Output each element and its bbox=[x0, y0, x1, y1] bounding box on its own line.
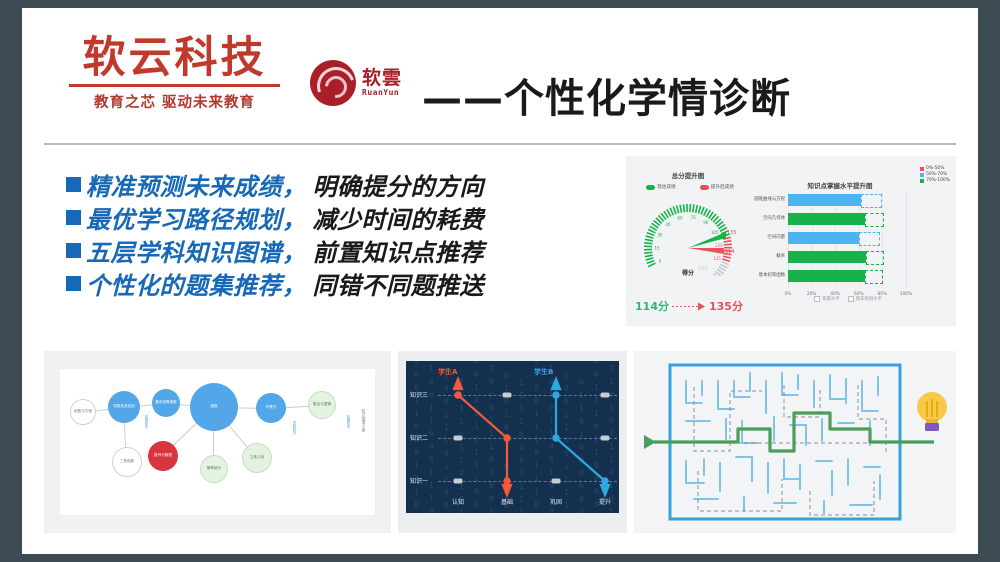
gauge-needle-target bbox=[688, 248, 724, 254]
legend-swatch-target bbox=[700, 185, 709, 190]
bullet-highlight: 五层学科知识图谱， bbox=[86, 233, 307, 268]
legend-swatch-forecast bbox=[848, 296, 854, 302]
legend-item: 50%-70% bbox=[920, 172, 950, 177]
bar-target-segment bbox=[865, 213, 885, 227]
graph-node[interactable]: 导数及其应用 bbox=[108, 391, 140, 423]
gauge-tick-label: 30 bbox=[657, 233, 663, 238]
list-item: 个性化的题集推荐， 同错不同题推送 bbox=[66, 267, 626, 300]
gauge-tick bbox=[704, 208, 708, 215]
target-score: 135分 bbox=[709, 298, 743, 314]
bar-target-segment bbox=[865, 270, 884, 284]
gauge-needle-label-target: 135 bbox=[727, 230, 737, 236]
legend-label: 70%-100% bbox=[926, 178, 950, 183]
gauge-tick bbox=[644, 243, 652, 244]
current-score: 114分 bbox=[635, 298, 669, 314]
list-item: 精准预测未来成绩， 明确提分的方向 bbox=[66, 168, 626, 201]
score-progression: 114分 135分 bbox=[630, 298, 748, 314]
gauge-tick bbox=[647, 261, 655, 264]
emblem-circle-icon bbox=[310, 60, 356, 106]
bar-target-segment bbox=[866, 251, 885, 265]
bar-current-segment bbox=[788, 270, 865, 282]
list-item: 最优学习路径规划， 减少时间的耗费 bbox=[66, 201, 626, 234]
gauge-legend: 现估成绩 提升后成绩 bbox=[634, 184, 746, 190]
gauge-tick bbox=[645, 239, 653, 241]
gauge-title: 总分提升图 bbox=[630, 170, 746, 180]
gauge-tick bbox=[724, 241, 732, 242]
gauge-tick-label: 75 bbox=[691, 215, 697, 220]
company-logo: 软云科技 教育之芯 驱动未来教育 bbox=[67, 36, 282, 112]
gauge-tick-label: 15 bbox=[654, 246, 660, 251]
gauge-tick bbox=[696, 205, 698, 213]
gauge-tick bbox=[646, 258, 654, 260]
graph-node[interactable]: 集合与逻辑 bbox=[308, 391, 336, 419]
bar-row: 空间几何体 bbox=[788, 213, 906, 225]
square-bullet-icon bbox=[66, 276, 81, 291]
graph-edge-label: 前置知识 bbox=[144, 415, 149, 429]
legend-label: 期末预测水平 bbox=[856, 296, 882, 302]
gauge-tick bbox=[648, 229, 655, 232]
gauge-center-label: 得分 bbox=[630, 268, 746, 277]
gauge-chart: 总分提升图 现估成绩 提升后成绩 0153045607590105120135 … bbox=[630, 164, 746, 322]
logo-divider bbox=[69, 84, 280, 87]
gauge-tick-label: 105 bbox=[711, 230, 719, 235]
graph-node[interactable]: 概率统计 bbox=[200, 455, 228, 483]
slide-frame: 软云科技 教育之芯 驱动未来教育 软雲 RuanYun ——个性化学情诊断 精准… bbox=[22, 8, 978, 554]
legend-item: 0%-50% bbox=[920, 166, 950, 171]
bar-current-segment bbox=[788, 232, 859, 244]
bar-row: 概率 bbox=[788, 251, 906, 263]
legend-swatch-current bbox=[646, 185, 655, 190]
category-label: 圆锥曲线与方程 bbox=[754, 194, 785, 206]
gauge-tick-label: 135 bbox=[713, 256, 721, 261]
student-b-path bbox=[552, 379, 609, 495]
gauge-tick bbox=[645, 255, 653, 257]
analytics-card: 总分提升图 现估成绩 提升后成绩 0153045607590105120135 … bbox=[626, 156, 956, 326]
knowledge-bar-chart: 知识点掌握水平提升图 0%-50% 50%-70% 70%-100% 0%20%… bbox=[746, 164, 952, 322]
legend-label: 现估成绩 bbox=[657, 184, 675, 190]
gauge-tick bbox=[721, 262, 728, 265]
gauge-tick bbox=[670, 208, 673, 215]
graph-node[interactable]: 三角函数 bbox=[112, 447, 142, 477]
knowledge-graph-panel: 函数与方程导数及其应用基本初等函数函数不等式集合与逻辑三角函数数列与极限概率统计… bbox=[44, 351, 391, 533]
maze-optimal-path bbox=[654, 413, 934, 451]
gauge-tick-label: 90 bbox=[703, 220, 709, 225]
legend-swatch-mid bbox=[920, 173, 924, 177]
bar-row: 基本初等函数 bbox=[788, 270, 906, 282]
bullet-list: 精准预测未来成绩， 明确提分的方向 最优学习路径规划， 减少时间的耗费 五层学科… bbox=[66, 168, 626, 300]
gauge-tick bbox=[677, 206, 679, 214]
graph-caption: 知识图谱示意 bbox=[362, 409, 367, 432]
gauge-tick-label: 120 bbox=[715, 243, 723, 248]
bullet-highlight: 个性化的题集推荐， bbox=[86, 266, 307, 301]
lightbulb-icon bbox=[917, 392, 947, 431]
category-label: 基本初等函数 bbox=[759, 270, 785, 282]
gauge-tick bbox=[644, 252, 652, 253]
bullet-highlight: 最优学习路径规划， bbox=[86, 200, 307, 235]
gauge-dial: 0153045607590105120135 135 114 150 bbox=[638, 192, 738, 276]
category-label: 空间向量 bbox=[767, 232, 785, 244]
gauge-tick bbox=[683, 204, 684, 212]
gauge-tick bbox=[698, 206, 700, 214]
list-item: 五层学科知识图谱， 前置知识点推荐 bbox=[66, 234, 626, 267]
gridline bbox=[906, 192, 907, 288]
bullet-tail: 前置知识点推荐 bbox=[313, 233, 485, 268]
bar-plot-area: 0%20%40%60%80%100%圆锥曲线与方程空间几何体空间向量概率基本初等… bbox=[788, 192, 906, 288]
legend-item: 70%-100% bbox=[920, 178, 950, 183]
legend-item: 提升后成绩 bbox=[700, 184, 734, 190]
page-title: ——个性化学情诊断 bbox=[422, 66, 791, 124]
gauge-tick bbox=[723, 256, 731, 258]
emblem-chinese-name: 软雲 bbox=[362, 69, 402, 89]
legend-item: 掌握水平 bbox=[814, 296, 840, 302]
gauge-tick bbox=[701, 207, 704, 214]
graph-node[interactable]: 数列与极限 bbox=[148, 441, 178, 471]
bar-current-segment bbox=[788, 213, 865, 225]
graph-node[interactable]: 基本初等函数 bbox=[152, 389, 180, 417]
knowledge-graph-canvas: 函数与方程导数及其应用基本初等函数函数不等式集合与逻辑三角函数数列与极限概率统计… bbox=[60, 369, 375, 515]
bar-row: 圆锥曲线与方程 bbox=[788, 194, 906, 206]
gauge-tick bbox=[722, 259, 730, 261]
graph-node[interactable]: 不等式 bbox=[256, 393, 286, 423]
gauge-tick bbox=[673, 207, 676, 215]
gauge-tick bbox=[680, 205, 681, 213]
gauge-tick bbox=[648, 263, 655, 266]
header-divider bbox=[44, 143, 956, 145]
legend-swatch-high bbox=[920, 179, 924, 183]
bullet-tail: 明确提分的方向 bbox=[313, 167, 485, 202]
graph-edge-label: 拓展知识 bbox=[346, 415, 351, 429]
bar-current-segment bbox=[788, 251, 866, 263]
graph-node[interactable]: 立体几何 bbox=[242, 443, 272, 473]
gauge-tick bbox=[647, 233, 655, 236]
graph-node[interactable]: 函数 bbox=[190, 383, 238, 431]
legend-item: 现估成绩 bbox=[646, 184, 675, 190]
logo-tagline: 教育之芯 驱动未来教育 bbox=[67, 91, 282, 112]
learning-path-chart: 1101011101011001110110000001101000000111… bbox=[406, 361, 619, 513]
bar-target-segment bbox=[861, 194, 882, 208]
graph-edge-label: 关联知识 bbox=[292, 421, 297, 435]
bullet-tail: 减少时间的耗费 bbox=[313, 200, 485, 235]
category-label: 概率 bbox=[776, 251, 785, 263]
square-bullet-icon bbox=[66, 177, 81, 192]
legend-label: 50%-70% bbox=[926, 172, 947, 177]
arrow-right-icon bbox=[672, 302, 706, 311]
gauge-tick-label: 45 bbox=[666, 222, 672, 227]
bar-current-segment bbox=[788, 194, 861, 206]
bar-row: 空间向量 bbox=[788, 232, 906, 244]
path-lines bbox=[406, 361, 619, 513]
emblem-text: 软雲 RuanYun bbox=[362, 69, 402, 97]
logo-main-text: 软云科技 bbox=[67, 36, 282, 81]
bar-target-segment bbox=[859, 232, 880, 246]
maze-diagram bbox=[634, 351, 956, 533]
gauge-tick bbox=[646, 236, 654, 238]
learning-path-panel: 1101011101011001110110000001101000000111… bbox=[398, 351, 627, 533]
square-bullet-icon bbox=[66, 243, 81, 258]
gauge-tick-label: 0 bbox=[659, 259, 662, 264]
gauge-tick bbox=[724, 244, 732, 245]
square-bullet-icon bbox=[66, 210, 81, 225]
legend-label: 掌握水平 bbox=[822, 296, 840, 302]
emblem-english-name: RuanYun bbox=[362, 89, 402, 97]
bar-chart-title: 知识点掌握水平提升图 bbox=[770, 180, 910, 190]
graph-node[interactable]: 函数与方程 bbox=[70, 399, 96, 425]
gauge-tick-label: 60 bbox=[677, 216, 683, 221]
gauge-needle-label-current: 114 bbox=[725, 249, 735, 255]
gauge-tick bbox=[693, 204, 694, 212]
legend-label: 0%-50% bbox=[926, 166, 944, 171]
maze-panel bbox=[634, 351, 956, 533]
ruanyun-emblem: 软雲 RuanYun bbox=[310, 60, 402, 106]
legend-swatch-low bbox=[920, 167, 924, 171]
bar-chart-legend: 0%-50% 50%-70% 70%-100% bbox=[920, 166, 950, 184]
category-label: 空间几何体 bbox=[763, 213, 785, 225]
bullet-tail: 同错不同题推送 bbox=[313, 266, 485, 301]
bar-chart-footer-legend: 掌握水平 期末预测水平 bbox=[788, 296, 908, 302]
legend-swatch-mastery bbox=[814, 296, 820, 302]
slide-header: 软云科技 教育之芯 驱动未来教育 软雲 RuanYun ——个性化学情诊断 bbox=[22, 8, 978, 130]
student-a-path bbox=[454, 379, 511, 495]
legend-item: 期末预测水平 bbox=[848, 296, 882, 302]
legend-label: 提升后成绩 bbox=[711, 184, 734, 190]
bullet-highlight: 精准预测未来成绩， bbox=[86, 167, 307, 202]
